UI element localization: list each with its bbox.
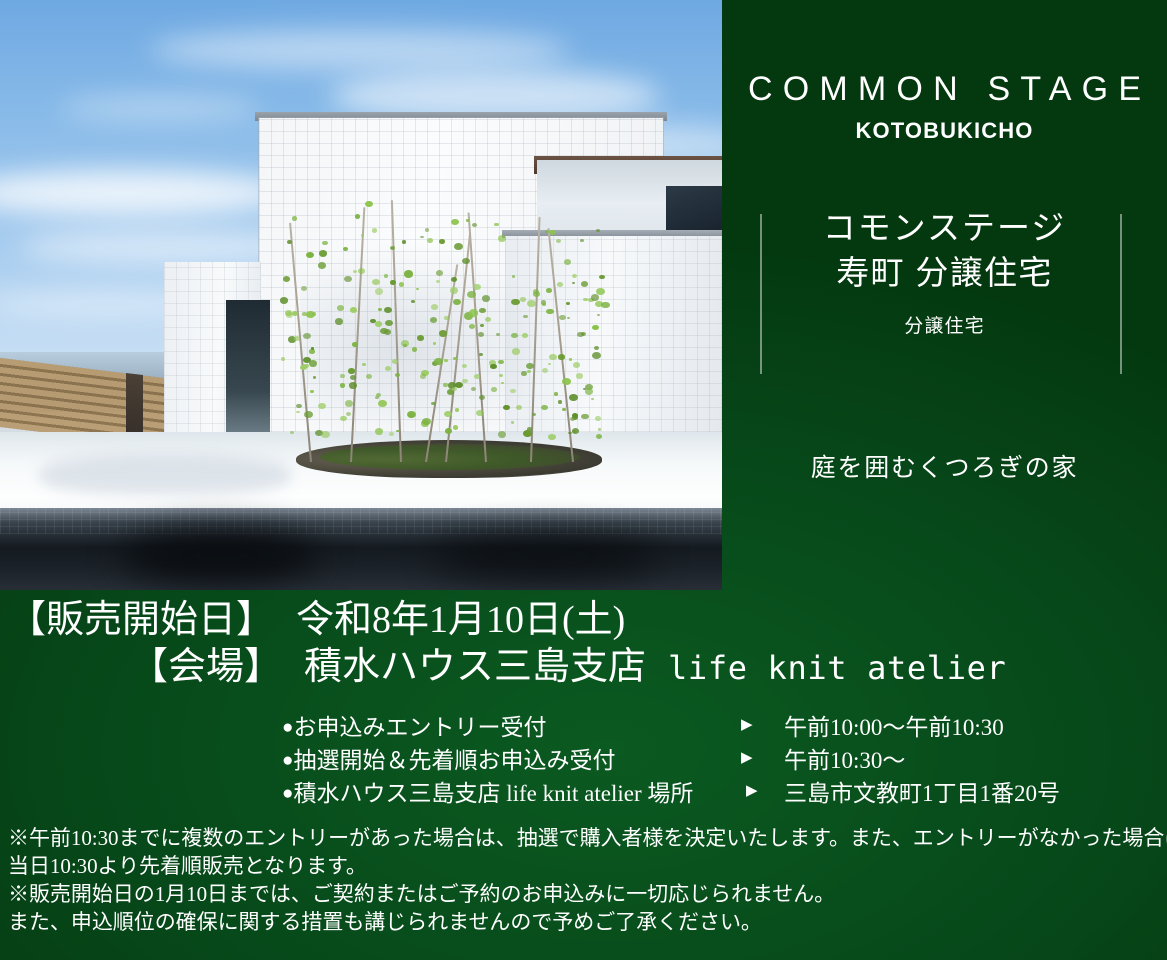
cloud <box>60 95 260 121</box>
promotional-poster: COMMON STAGE KOTOBUKICHO コモンステージ 寿町 分譲住宅… <box>0 0 1167 960</box>
foreground-shadow <box>120 530 320 582</box>
venue-value: 積水ハウス三島支店 <box>304 646 646 688</box>
schedule-label-2: ●積水ハウス三島支店 life knit atelier 場所 <box>0 774 693 808</box>
brand-subtitle: KOTOBUKICHO <box>722 120 1167 142</box>
arrow-right-icon: ▶ <box>741 750 753 765</box>
schedule-value-0: 午前10:00〜午前10:30 <box>784 708 1004 742</box>
bullet-dot-icon: ● <box>282 783 293 804</box>
property-photo <box>0 0 722 590</box>
note-line-1: 当日10:30より先着順販売となります。 <box>8 852 1167 880</box>
note-line-3: また、申込順位の確保に関する措置も講じられませんので予めご了承ください。 <box>8 908 1167 936</box>
schedule-label-text-2: 積水ハウス三島支店 life knit atelier 場所 <box>293 781 693 806</box>
note-line-2: ※販売開始日の1月10日までは、ご契約またはご予約のお申込みに一切応じられません… <box>8 880 1167 908</box>
arrow-right-icon: ▶ <box>746 783 758 798</box>
foreground-shadow <box>430 534 660 580</box>
japanese-title-line1: コモンステージ <box>722 206 1167 251</box>
tagline: 庭を囲むくつろぎの家 <box>722 448 1167 484</box>
sale-info-block: 【販売開始日】令和8年1月10日(土) 【会場】積水ハウス三島支店life kn… <box>0 590 1167 688</box>
note-line-0: ※午前10:30までに複数のエントリーがあった場合は、抽選で購入者様を決定いたし… <box>8 824 1167 852</box>
venue-row: 【会場】積水ハウス三島支店life knit atelier <box>0 641 1167 688</box>
venue-brand: life knit atelier <box>668 649 1006 687</box>
sale-date-row: 【販売開始日】令和8年1月10日(土) <box>0 590 1167 641</box>
schedule-value-1: 午前10:30〜 <box>784 741 905 775</box>
japanese-title-block: コモンステージ 寿町 分譲住宅 分譲住宅 <box>722 206 1167 338</box>
arrow-right-icon: ▶ <box>741 717 753 732</box>
list-item: ●抽選開始＆先着順お申込み受付 ▶ 午前10:30〜 <box>0 741 1167 774</box>
list-item: ●積水ハウス三島支店 life knit atelier 場所 ▶ 三島市文教町… <box>0 774 1167 807</box>
schedule-value-2: 三島市文教町1丁目1番20号 <box>784 774 1060 808</box>
venue-label: 【会場】 <box>130 646 282 688</box>
courtyard-trees <box>280 200 610 462</box>
courtyard-shadow <box>40 455 290 495</box>
bullet-dot-icon: ● <box>282 717 293 738</box>
brand-title: COMMON STAGE <box>722 72 1167 106</box>
schedule-label-text-1: 抽選開始＆先着順お申込み受付 <box>293 748 615 773</box>
bullet-dot-icon: ● <box>282 750 293 771</box>
japanese-property-type: 分譲住宅 <box>722 311 1167 338</box>
sale-date-label: 【販売開始日】 <box>8 599 274 641</box>
schedule-label-1: ●抽選開始＆先着順お申込み受付 <box>0 741 615 775</box>
cloud <box>150 30 570 70</box>
brand-block: COMMON STAGE KOTOBUKICHO <box>722 0 1167 142</box>
schedule-list: ●お申込みエントリー受付 ▶ 午前10:00〜午前10:30 ●抽選開始＆先着順… <box>0 708 1167 807</box>
japanese-title-line2: 寿町 分譲住宅 <box>722 251 1167 296</box>
schedule-label-text-0: お申込みエントリー受付 <box>293 715 546 740</box>
disclaimer-notes: ※午前10:30までに複数のエントリーがあった場合は、抽選で購入者様を決定いたし… <box>8 824 1167 937</box>
list-item: ●お申込みエントリー受付 ▶ 午前10:00〜午前10:30 <box>0 708 1167 741</box>
sale-date-value: 令和8年1月10日(土) <box>296 599 625 641</box>
schedule-label-0: ●お申込みエントリー受付 <box>0 708 546 742</box>
